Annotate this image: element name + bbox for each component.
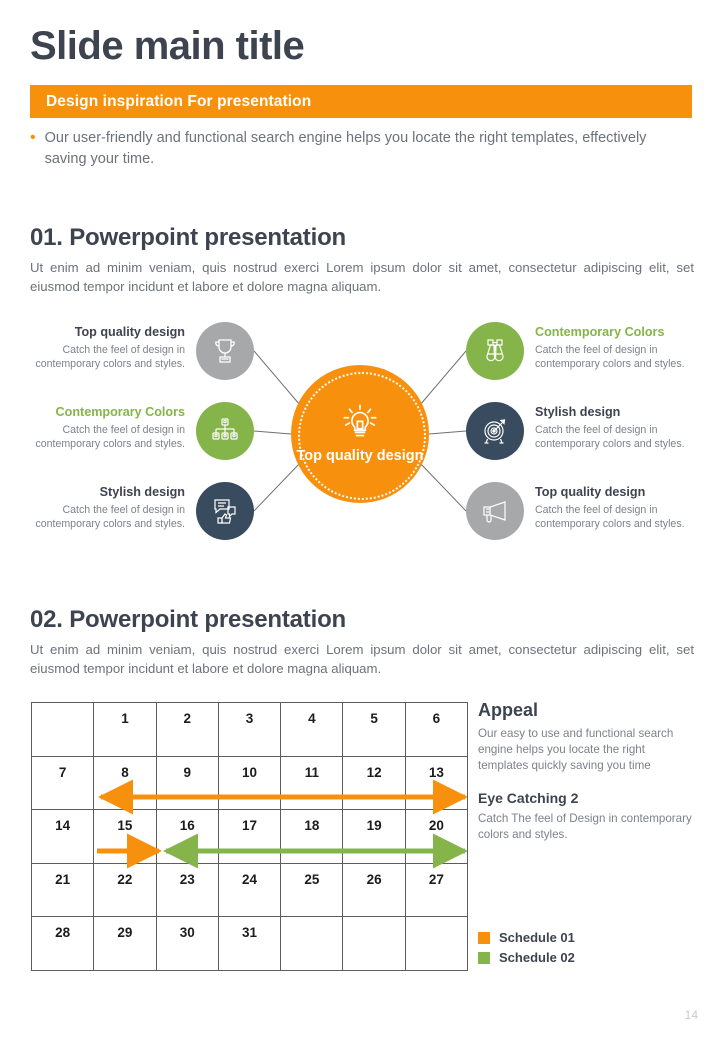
diagram-label-left-1-title: Top quality design — [20, 324, 185, 340]
calendar-day-cell[interactable]: 27 — [405, 863, 467, 917]
legend-swatch-green-icon — [478, 952, 490, 964]
calendar-day-cell[interactable]: 14 — [32, 810, 94, 864]
diagram-label-left-1-desc: Catch the feel of design in contemporary… — [20, 343, 185, 371]
diagram-node-target-dart[interactable] — [466, 402, 524, 460]
legend-label-schedule-01: Schedule 01 — [499, 930, 575, 945]
binoculars-icon — [479, 335, 511, 367]
target-dart-icon — [479, 415, 511, 447]
bullet-dot-icon: • — [30, 127, 36, 148]
diagram-label-left-2: Contemporary Colors Catch the feel of de… — [20, 404, 185, 451]
diagram-label-right-1: Contemporary Colors Catch the feel of de… — [535, 324, 700, 371]
section-1-heading: 01. Powerpoint presentation — [30, 224, 346, 252]
diagram-label-right-1-title: Contemporary Colors — [535, 324, 700, 340]
calendar-row: 28293031 — [32, 917, 468, 971]
diagram-label-right-1-desc: Catch the feel of design in contemporary… — [535, 343, 700, 371]
diagram-label-left-3: Stylish design Catch the feel of design … — [20, 484, 185, 531]
section-2-body: Ut enim ad minim veniam, quis nostrud ex… — [30, 640, 694, 678]
calendar-day-cell[interactable]: 12 — [343, 756, 405, 810]
info-text: Our easy to use and functional search en… — [478, 726, 693, 774]
calendar-day-cell[interactable]: 28 — [32, 917, 94, 971]
chat-thumbsup-icon — [209, 495, 241, 527]
diagram-label-right-3-title: Top quality design — [535, 484, 700, 500]
diagram-label-right-3: Top quality design Catch the feel of des… — [535, 484, 700, 531]
calendar-empty-cell — [405, 917, 467, 971]
diagram-label-left-3-desc: Catch the feel of design in contemporary… — [20, 503, 185, 531]
diagram-center-node[interactable]: Top quality design — [291, 365, 429, 503]
calendar-day-cell[interactable]: 26 — [343, 863, 405, 917]
intro-bullet-row: • Our user-friendly and functional searc… — [30, 128, 690, 170]
intro-text: Our user-friendly and functional search … — [45, 128, 670, 170]
subtitle-banner-label: Design inspiration For presentation — [30, 93, 311, 111]
org-chart-icon — [209, 415, 241, 447]
calendar-empty-cell — [32, 703, 94, 757]
diagram-node-binoculars[interactable] — [466, 322, 524, 380]
calendar-day-cell[interactable]: 3 — [218, 703, 280, 757]
section-2-heading: 02. Powerpoint presentation — [30, 606, 346, 634]
calendar-day-cell[interactable]: 21 — [32, 863, 94, 917]
calendar-day-cell[interactable]: 23 — [156, 863, 218, 917]
diagram-label-right-3-desc: Catch the feel of design in contemporary… — [535, 503, 700, 531]
slide-canvas: Slide main title Design inspiration For … — [0, 0, 720, 1040]
legend-swatch-orange-icon — [478, 932, 490, 944]
diagram-label-left-2-title: Contemporary Colors — [20, 404, 185, 420]
calendar-day-cell[interactable]: 10 — [218, 756, 280, 810]
calendar-day-cell[interactable]: 13 — [405, 756, 467, 810]
calendar-widget: 1234567891011121314151617181920212223242… — [31, 702, 467, 970]
calendar-day-cell[interactable]: 30 — [156, 917, 218, 971]
calendar-day-cell[interactable]: 8 — [94, 756, 156, 810]
info-subtitle: Eye Catching 2 — [478, 790, 693, 806]
calendar-day-cell[interactable]: 16 — [156, 810, 218, 864]
info-title: Appeal — [478, 700, 693, 721]
calendar-row: 78910111213 — [32, 756, 468, 810]
diagram-node-org-chart[interactable] — [196, 402, 254, 460]
calendar-day-cell[interactable]: 29 — [94, 917, 156, 971]
legend-item-schedule-01[interactable]: Schedule 01 — [478, 930, 575, 945]
info-subtext: Catch The feel of Design in contemporary… — [478, 811, 693, 843]
diagram-label-right-2: Stylish design Catch the feel of design … — [535, 404, 700, 451]
calendar-day-cell[interactable]: 25 — [281, 863, 343, 917]
calendar-day-cell[interactable]: 7 — [32, 756, 94, 810]
diagram-label-right-2-title: Stylish design — [535, 404, 700, 420]
diagram-label-left-2-desc: Catch the feel of design in contemporary… — [20, 423, 185, 451]
calendar-empty-cell — [343, 917, 405, 971]
diagram-label-right-2-desc: Catch the feel of design in contemporary… — [535, 423, 700, 451]
calendar-row: 123456 — [32, 703, 468, 757]
diagram-label-left-3-title: Stylish design — [20, 484, 185, 500]
calendar-day-cell[interactable]: 1 — [94, 703, 156, 757]
calendar-table: 1234567891011121314151617181920212223242… — [31, 702, 468, 971]
trophy-icon — [209, 335, 241, 367]
diagram-node-megaphone[interactable] — [466, 482, 524, 540]
calendar-day-cell[interactable]: 4 — [281, 703, 343, 757]
diagram-node-chat-thumbsup[interactable] — [196, 482, 254, 540]
calendar-day-cell[interactable]: 20 — [405, 810, 467, 864]
calendar-day-cell[interactable]: 31 — [218, 917, 280, 971]
diagram-center-label: Top quality design — [296, 447, 423, 465]
subtitle-banner: Design inspiration For presentation — [30, 85, 692, 118]
diagram-label-left-1: Top quality design Catch the feel of des… — [20, 324, 185, 371]
legend-label-schedule-02: Schedule 02 — [499, 950, 575, 965]
calendar-day-cell[interactable]: 17 — [218, 810, 280, 864]
calendar-row: 21222324252627 — [32, 863, 468, 917]
calendar-day-cell[interactable]: 19 — [343, 810, 405, 864]
calendar-day-cell[interactable]: 15 — [94, 810, 156, 864]
calendar-legend: Schedule 01 Schedule 02 — [478, 930, 575, 970]
calendar-day-cell[interactable]: 18 — [281, 810, 343, 864]
calendar-day-cell[interactable]: 24 — [218, 863, 280, 917]
calendar-day-cell[interactable]: 5 — [343, 703, 405, 757]
section-1-body: Ut enim ad minim veniam, quis nostrud ex… — [30, 258, 694, 296]
calendar-day-cell[interactable]: 22 — [94, 863, 156, 917]
legend-item-schedule-02[interactable]: Schedule 02 — [478, 950, 575, 965]
megaphone-icon — [479, 495, 511, 527]
page-title: Slide main title — [30, 24, 304, 69]
calendar-empty-cell — [281, 917, 343, 971]
page-number: 14 — [685, 1008, 698, 1022]
calendar-day-cell[interactable]: 2 — [156, 703, 218, 757]
diagram-node-trophy[interactable] — [196, 322, 254, 380]
hub-and-spoke-diagram: Top quality design Catch the feel of des… — [0, 305, 720, 555]
calendar-day-cell[interactable]: 9 — [156, 756, 218, 810]
calendar-day-cell[interactable]: 11 — [281, 756, 343, 810]
info-panel: Appeal Our easy to use and functional se… — [478, 700, 693, 843]
calendar-row: 14151617181920 — [32, 810, 468, 864]
lightbulb-icon — [339, 403, 381, 445]
calendar-day-cell[interactable]: 6 — [405, 703, 467, 757]
